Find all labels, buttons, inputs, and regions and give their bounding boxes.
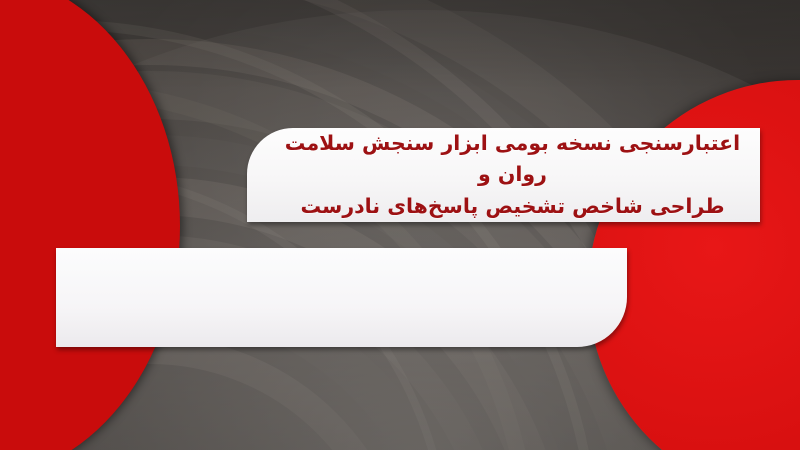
slide-title-text: اعتبارسنجی نسخه بومی ابزار سنجش سلامت رو… bbox=[247, 128, 760, 221]
presentation-slide: اعتبارسنجی نسخه بومی ابزار سنجش سلامت رو… bbox=[0, 0, 800, 450]
content-placeholder-panel[interactable] bbox=[56, 248, 627, 347]
slide-title-panel[interactable]: اعتبارسنجی نسخه بومی ابزار سنجش سلامت رو… bbox=[247, 128, 760, 222]
content-body-text bbox=[56, 248, 627, 347]
